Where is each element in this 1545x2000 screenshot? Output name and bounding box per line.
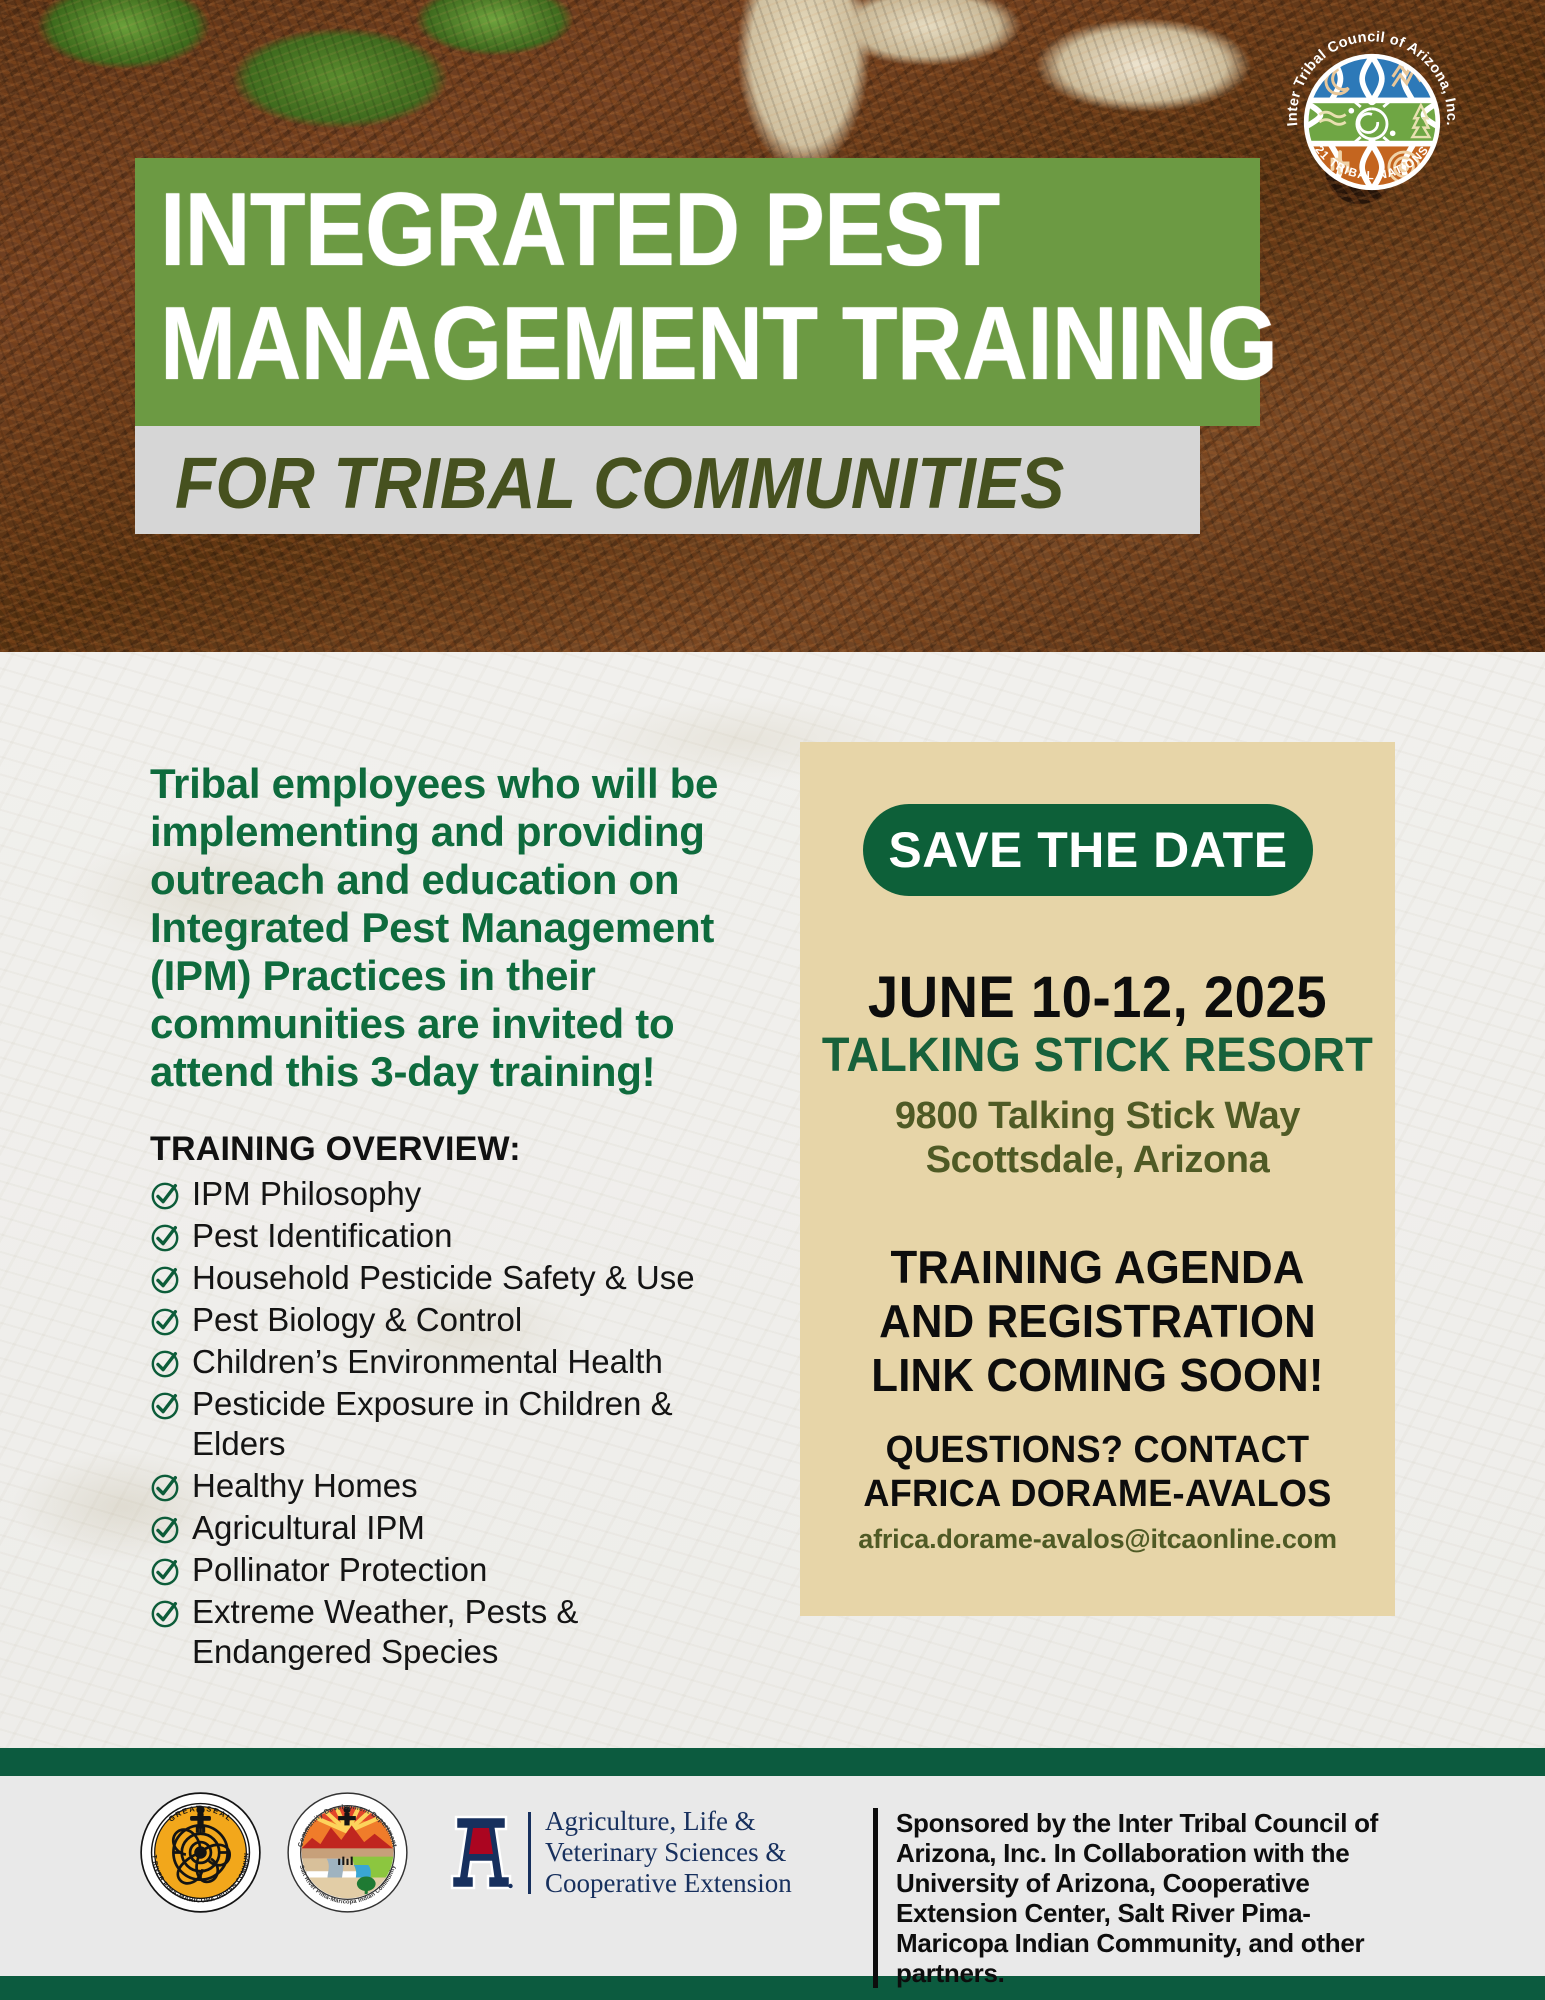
flyer-poster: Inter Tribal Council of Arizona, Inc. 21… [0,0,1545,2000]
registration-notice: TRAINING AGENDA AND REGISTRATION LINK CO… [815,1240,1380,1402]
save-the-date-panel: SAVE THE DATE JUNE 10-12, 2025 TALKING S… [800,742,1395,1616]
list-item-label: Extreme Weather, Pests & Endangered Spec… [192,1592,760,1672]
check-circle-icon [150,1390,180,1420]
check-circle-icon [150,1306,180,1336]
intro-paragraph: Tribal employees who will be implementin… [150,760,760,1096]
sponsor-accent-bar [873,1808,878,1988]
list-item-label: Pesticide Exposure in Children & Elders [192,1384,760,1464]
check-circle-icon [150,1556,180,1586]
event-venue: TALKING STICK RESORT [818,1032,1377,1080]
list-item-label: Household Pesticide Safety & Use [192,1258,695,1298]
address-line-1: 9800 Talking Stick Way [800,1094,1395,1138]
list-item-label: Healthy Homes [192,1466,418,1506]
itca-logo: Inter Tribal Council of Arizona, Inc. 21… [1278,28,1466,216]
training-overview-heading: TRAINING OVERVIEW: [150,1130,760,1168]
registration-line-3: LINK COMING SOON! [815,1348,1380,1402]
list-item: Pollinator Protection [150,1550,760,1590]
check-circle-icon [150,1348,180,1378]
ua-college-name: Agriculture, Life & Veterinary Sciences … [545,1806,792,1899]
left-column: Tribal employees who will be implementin… [150,760,760,1674]
event-date: JUNE 10-12, 2025 [818,969,1377,1027]
subtitle-text: FOR TRIBAL COMMUNITIES [175,448,1064,520]
contact-email[interactable]: africa.dorame-avalos@itcaonline.com [800,1524,1395,1554]
university-of-arizona-logo: Agriculture, Life & Veterinary Sciences … [448,1806,792,1899]
footer-top-rule [0,1748,1545,1776]
questions-contact: QUESTIONS? CONTACT AFRICA DORAME-AVALOS [815,1428,1380,1516]
save-the-date-badge: SAVE THE DATE [863,804,1313,896]
check-circle-icon [150,1598,180,1628]
ua-line-2: Veterinary Sciences & [545,1837,792,1868]
list-item-label: Pest Biology & Control [192,1300,522,1340]
event-address: 9800 Talking Stick Way Scottsdale, Arizo… [800,1094,1395,1182]
ua-line-1: Agriculture, Life & [545,1806,792,1837]
list-item: IPM Philosophy [150,1174,760,1214]
check-circle-icon [150,1472,180,1502]
list-item-label: IPM Philosophy [192,1174,421,1214]
title-line-2: MANAGEMENT TRAINING [160,292,1277,396]
sponsor-block: Sponsored by the Inter Tribal Council of… [873,1808,1396,1988]
check-circle-icon [150,1180,180,1210]
community-development-department-logo: Community Development Department Salt Ri… [285,1790,410,1915]
list-item-label: Pest Identification [192,1216,453,1256]
list-item-label: Agricultural IPM [192,1508,425,1548]
footer-logo-row: GREAT SEAL SALT RIVER PIMA-MARICOPA INDI… [138,1790,792,1915]
check-circle-icon [150,1222,180,1252]
list-item: Household Pesticide Safety & Use [150,1258,760,1298]
list-item: Extreme Weather, Pests & Endangered Spec… [150,1592,760,1672]
list-item: Pest Biology & Control [150,1300,760,1340]
list-item-label: Children’s Environmental Health [192,1342,663,1382]
check-circle-icon [150,1264,180,1294]
check-circle-icon [150,1514,180,1544]
list-item: Pest Identification [150,1216,760,1256]
save-the-date-label: SAVE THE DATE [888,821,1287,879]
questions-line-1: QUESTIONS? CONTACT [815,1428,1380,1472]
title-line-1: INTEGRATED PEST [160,178,999,282]
list-item-label: Pollinator Protection [192,1550,487,1590]
srpmic-great-seal-logo: GREAT SEAL SALT RIVER PIMA-MARICOPA INDI… [138,1790,263,1915]
address-line-2: Scottsdale, Arizona [800,1138,1395,1182]
list-item: Children’s Environmental Health [150,1342,760,1382]
ua-divider [528,1812,531,1894]
ua-line-3: Cooperative Extension [545,1868,792,1899]
registration-line-1: TRAINING AGENDA [815,1240,1380,1294]
list-item: Pesticide Exposure in Children & Elders [150,1384,760,1464]
registration-line-2: AND REGISTRATION [815,1294,1380,1348]
questions-line-2: AFRICA DORAME-AVALOS [815,1472,1380,1516]
ua-block-a-icon [448,1814,514,1892]
list-item: Healthy Homes [150,1466,760,1506]
list-item: Agricultural IPM [150,1508,760,1548]
training-overview-list: IPM Philosophy Pest Identification House… [150,1174,760,1672]
sponsor-text: Sponsored by the Inter Tribal Council of… [896,1808,1396,1988]
